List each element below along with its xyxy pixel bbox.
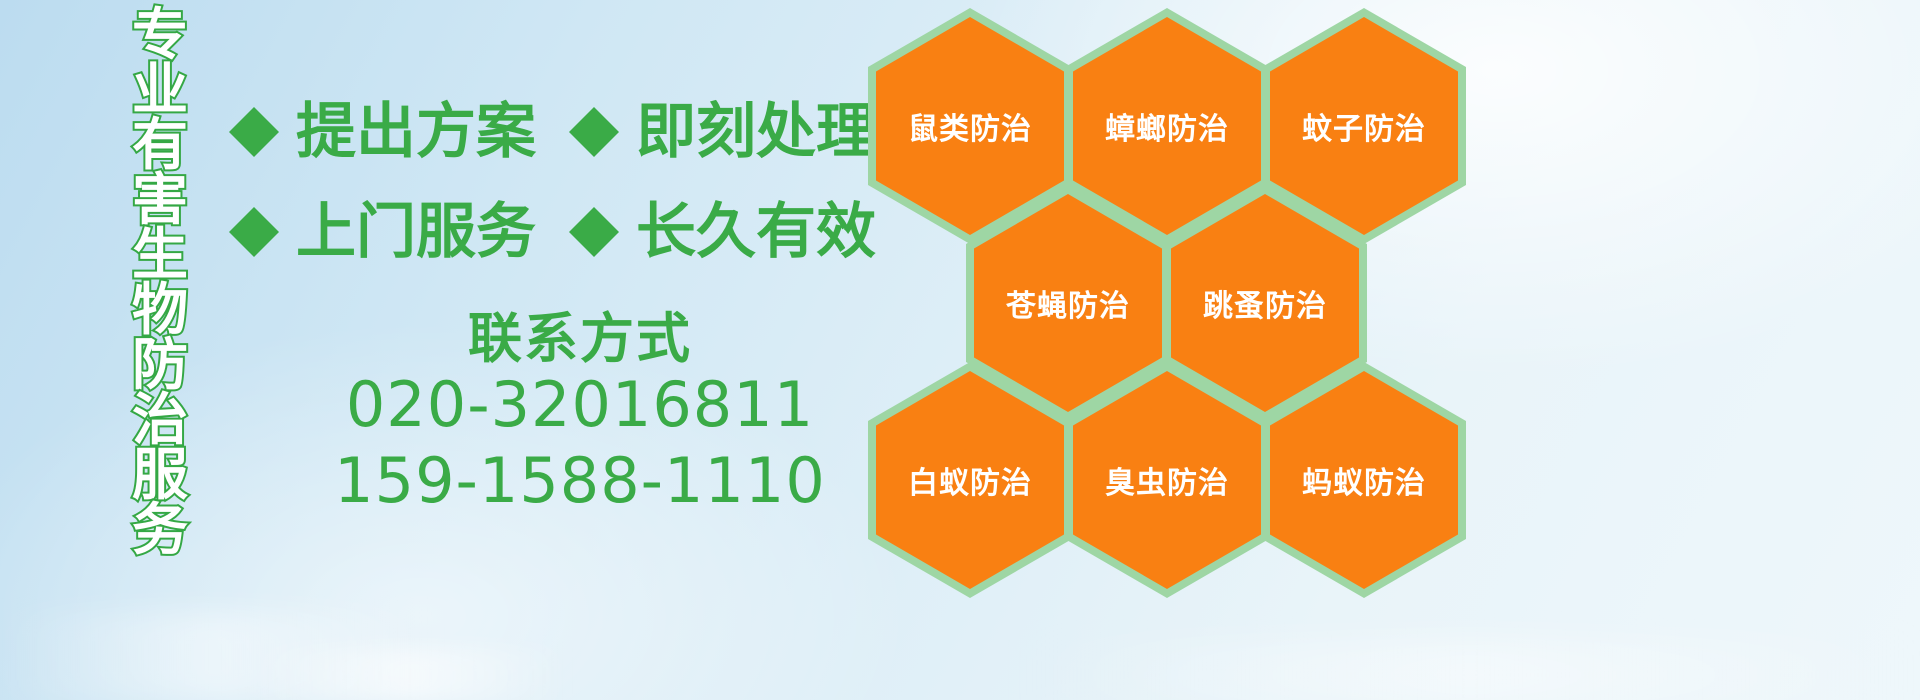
- diamond-icon: [566, 204, 622, 260]
- vertical-headline-char: 有: [132, 118, 188, 173]
- service-label: 跳蚤防治: [1203, 281, 1327, 325]
- vertical-headline-char: 治: [132, 393, 188, 448]
- promo-banner: 专 业 有 害 生 物 防 治 服 务 提出方案 即刻处理: [0, 0, 1920, 700]
- feature-label: 即刻处理: [636, 102, 876, 162]
- hex-fill: 臭虫防治: [1073, 371, 1261, 589]
- hex-fill: 蟑螂防治: [1073, 17, 1261, 235]
- vertical-headline-char: 务: [132, 503, 188, 558]
- phone-number-landline[interactable]: 020-32016811: [300, 367, 860, 443]
- hex-fill: 跳蚤防治: [1171, 194, 1359, 412]
- service-label: 苍蝇防治: [1006, 281, 1130, 325]
- vertical-headline-char: 业: [132, 63, 188, 118]
- service-label: 鼠类防治: [908, 104, 1032, 148]
- feature-label: 提出方案: [296, 102, 536, 162]
- feature-item: 提出方案: [226, 102, 536, 162]
- vertical-headline-char: 害: [132, 173, 188, 228]
- service-label: 蚂蚁防治: [1302, 458, 1426, 502]
- hex-fill: 苍蝇防治: [974, 194, 1162, 412]
- diamond-icon: [226, 204, 282, 260]
- service-label: 臭虫防治: [1105, 458, 1229, 502]
- hex-fill: 白蚁防治: [876, 371, 1064, 589]
- feature-label: 长久有效: [636, 202, 876, 262]
- vertical-headline-char: 专: [132, 8, 188, 63]
- diamond-icon: [226, 104, 282, 160]
- vertical-headline: 专 业 有 害 生 物 防 治 服 务: [108, 8, 212, 558]
- diamond-icon: [566, 104, 622, 160]
- contact-title: 联系方式: [300, 310, 860, 367]
- phone-number-mobile[interactable]: 159-1588-1110: [300, 443, 860, 519]
- feature-list: 提出方案 即刻处理 上门服务 长久有效: [226, 82, 886, 282]
- service-label: 蟑螂防治: [1105, 104, 1229, 148]
- vertical-headline-char: 物: [132, 283, 188, 338]
- hex-fill: 鼠类防治: [876, 17, 1064, 235]
- service-honeycomb: 鼠类防治 蟑螂防治 蚊子防治 苍蝇防治 跳蚤防治 白蚁防治: [860, 0, 1480, 700]
- feature-item: 上门服务: [226, 202, 536, 262]
- vertical-headline-char: 防: [132, 338, 188, 393]
- feature-label: 上门服务: [296, 202, 536, 262]
- hex-fill: 蚂蚁防治: [1270, 371, 1458, 589]
- service-label: 蚊子防治: [1302, 104, 1426, 148]
- feature-item: 即刻处理: [566, 102, 876, 162]
- vertical-headline-char: 生: [132, 228, 188, 283]
- background-light-streak: [250, 648, 570, 700]
- contact-block: 联系方式 020-32016811 159-1588-1110: [300, 310, 860, 518]
- feature-row: 上门服务 长久有效: [226, 182, 886, 282]
- vertical-headline-char: 服: [132, 448, 188, 503]
- feature-row: 提出方案 即刻处理: [226, 82, 886, 182]
- hex-fill: 蚊子防治: [1270, 17, 1458, 235]
- service-label: 白蚁防治: [908, 458, 1032, 502]
- feature-item: 长久有效: [566, 202, 876, 262]
- background-light-streak: [0, 612, 430, 700]
